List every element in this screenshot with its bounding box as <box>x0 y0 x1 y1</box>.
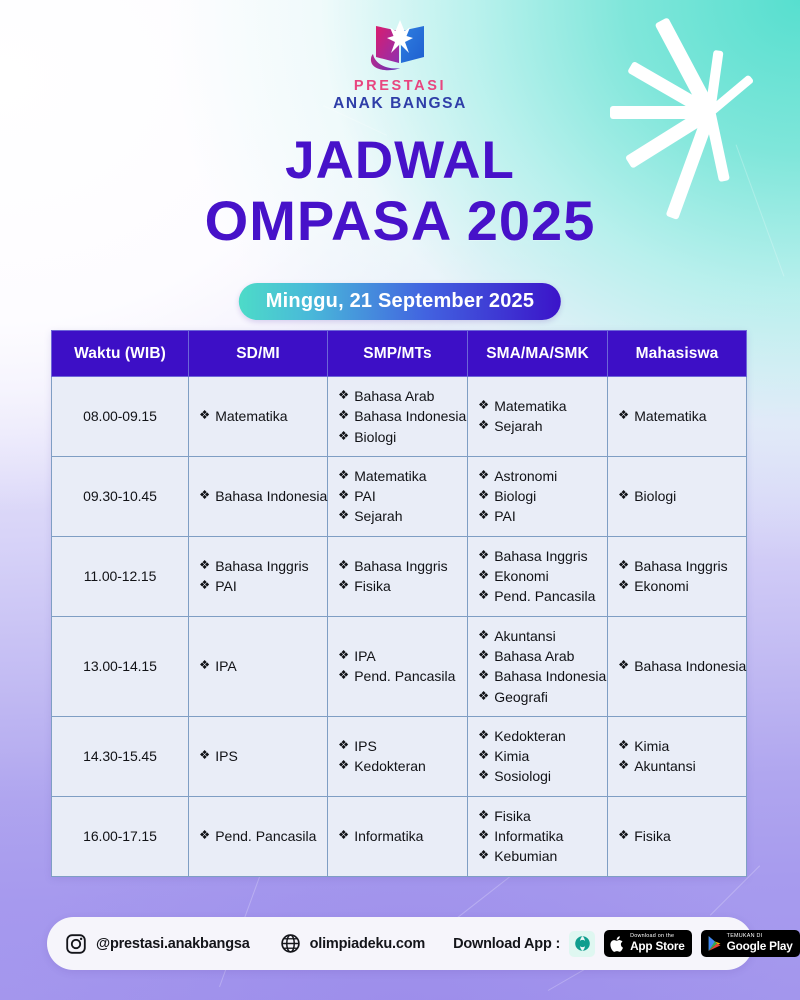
app-glyph-icon <box>573 934 592 953</box>
diamond-bullet-icon: ❖ <box>478 416 489 435</box>
subject-list: ❖Biologi <box>618 486 736 506</box>
title-line-1: JADWAL <box>0 133 800 188</box>
subject-item: ❖Informatika <box>338 826 457 846</box>
subject-item: ❖Bahasa Inggris <box>478 546 597 566</box>
subject-item: ❖Kimia <box>618 736 736 756</box>
subject-label: Pend. Pancasila <box>354 666 455 686</box>
diamond-bullet-icon: ❖ <box>338 756 349 775</box>
table-row: 09.30-10.45❖Bahasa Indonesia❖Matematika❖… <box>52 456 747 536</box>
subject-item: ❖Pend. Pancasila <box>199 826 317 846</box>
subject-label: Bahasa Inggris <box>634 556 727 576</box>
subject-label: Matematika <box>215 406 287 426</box>
diamond-bullet-icon: ❖ <box>478 726 489 745</box>
cell-waktu: 08.00-09.15 <box>52 377 189 457</box>
cell-smamask: ❖Matematika❖Sejarah <box>468 377 608 457</box>
subject-list: ❖IPS❖Kedokteran <box>338 736 457 777</box>
subject-label: Kedokteran <box>354 756 426 776</box>
diamond-bullet-icon: ❖ <box>478 746 489 765</box>
googleplay-badge-bottom: Google Play <box>727 941 793 953</box>
table-header-row: Waktu (WIB) SD/MI SMP/MTs SMA/MA/SMK Mah… <box>52 331 747 377</box>
subject-item: ❖PAI <box>199 576 317 596</box>
instagram-icon[interactable] <box>65 933 87 955</box>
subject-label: Bahasa Arab <box>494 646 574 666</box>
subject-list: ❖Bahasa Inggris❖Ekonomi❖Pend. Pancasila <box>478 546 597 607</box>
diamond-bullet-icon: ❖ <box>338 576 349 595</box>
subject-item: ❖Astronomi <box>478 466 597 486</box>
diamond-bullet-icon: ❖ <box>478 586 489 605</box>
subject-item: ❖Ekonomi <box>478 566 597 586</box>
subject-item: ❖Kedokteran <box>478 726 597 746</box>
diamond-bullet-icon: ❖ <box>338 556 349 575</box>
page-title: JADWAL OMPASA 2025 <box>0 133 800 250</box>
subject-list: ❖Bahasa Arab❖Bahasa Indonesia❖Biologi <box>338 386 457 447</box>
column-header-mahasiswa: Mahasiswa <box>608 331 747 377</box>
diamond-bullet-icon: ❖ <box>199 656 210 675</box>
table-row: 08.00-09.15❖Matematika❖Bahasa Arab❖Bahas… <box>52 377 747 457</box>
table-row: 11.00-12.15❖Bahasa Inggris❖PAI❖Bahasa In… <box>52 536 747 616</box>
subject-label: Biologi <box>634 486 676 506</box>
subject-label: Akuntansi <box>494 626 555 646</box>
title-line-2: OMPASA 2025 <box>0 192 800 250</box>
subject-label: Kimia <box>494 746 529 766</box>
subject-item: ❖Sejarah <box>478 416 597 436</box>
cell-mahasiswa: ❖Bahasa Indonesia <box>608 616 747 716</box>
instagram-handle[interactable]: @prestasi.anakbangsa <box>96 936 250 952</box>
brand-name-line2: ANAK BANGSA <box>0 95 800 113</box>
subject-label: Matematika <box>494 396 566 416</box>
cell-smamask: ❖Akuntansi❖Bahasa Arab❖Bahasa Indonesia❖… <box>468 616 608 716</box>
diamond-bullet-icon: ❖ <box>618 826 629 845</box>
subject-list: ❖Bahasa Inggris❖Fisika <box>338 556 457 597</box>
cell-mahasiswa: ❖Bahasa Inggris❖Ekonomi <box>608 536 747 616</box>
subject-label: IPA <box>354 646 376 666</box>
diamond-bullet-icon: ❖ <box>338 666 349 685</box>
diamond-bullet-icon: ❖ <box>478 546 489 565</box>
cell-waktu: 11.00-12.15 <box>52 536 189 616</box>
subject-list: ❖Matematika <box>199 406 317 426</box>
apple-icon <box>610 935 625 953</box>
subject-list: ❖IPA❖Pend. Pancasila <box>338 646 457 687</box>
appstore-badge-bottom: App Store <box>630 941 685 953</box>
open-book-star-logo-icon <box>363 12 437 74</box>
subject-list: ❖Fisika <box>618 826 736 846</box>
diamond-bullet-icon: ❖ <box>338 406 349 425</box>
diamond-bullet-icon: ❖ <box>199 746 210 765</box>
diamond-bullet-icon: ❖ <box>199 406 210 425</box>
cell-smpmts: ❖IPA❖Pend. Pancasila <box>328 616 468 716</box>
diamond-bullet-icon: ❖ <box>338 486 349 505</box>
subject-list: ❖Matematika❖PAI❖Sejarah <box>338 466 457 527</box>
subject-label: Fisika <box>494 806 531 826</box>
cell-smpmts: ❖IPS❖Kedokteran <box>328 716 468 796</box>
subject-label: Fisika <box>354 576 391 596</box>
diamond-bullet-icon: ❖ <box>478 806 489 825</box>
subject-label: Bahasa Indonesia <box>634 656 746 676</box>
subject-list: ❖Fisika❖Informatika❖Kebumian <box>478 806 597 867</box>
subject-item: ❖Bahasa Indonesia <box>618 656 736 676</box>
diamond-bullet-icon: ❖ <box>478 766 489 785</box>
brand-name-line1: PRESTASI <box>0 78 800 94</box>
diamond-bullet-icon: ❖ <box>478 846 489 865</box>
appstore-badge[interactable]: Download on the App Store <box>604 930 692 957</box>
subject-label: Bahasa Inggris <box>215 556 308 576</box>
table-row: 14.30-15.45❖IPS❖IPS❖Kedokteran❖Kedoktera… <box>52 716 747 796</box>
diamond-bullet-icon: ❖ <box>338 736 349 755</box>
cell-sdmi: ❖Matematika <box>189 377 328 457</box>
subject-label: Biologi <box>354 427 396 447</box>
subject-label: Bahasa Indonesia <box>215 486 327 506</box>
cell-sdmi: ❖Pend. Pancasila <box>189 796 328 876</box>
diamond-bullet-icon: ❖ <box>478 506 489 525</box>
subject-item: ❖Matematika <box>199 406 317 426</box>
subject-label: Pend. Pancasila <box>494 586 595 606</box>
footer-bar: @prestasi.anakbangsa olimpiadeku.com Dow… <box>47 917 753 970</box>
column-header-sdmi: SD/MI <box>189 331 328 377</box>
diamond-bullet-icon: ❖ <box>478 486 489 505</box>
subject-label: PAI <box>494 506 516 526</box>
subject-item: ❖Matematika <box>338 466 457 486</box>
diamond-bullet-icon: ❖ <box>338 466 349 485</box>
subject-list: ❖Kedokteran❖Kimia❖Sosiologi <box>478 726 597 787</box>
cell-mahasiswa: ❖Kimia❖Akuntansi <box>608 716 747 796</box>
diamond-bullet-icon: ❖ <box>338 506 349 525</box>
subject-list: ❖Bahasa Indonesia <box>618 656 736 676</box>
subject-label: Sejarah <box>494 416 542 436</box>
subject-item: ❖Fisika <box>338 576 457 596</box>
diamond-bullet-icon: ❖ <box>618 656 629 675</box>
subject-list: ❖Akuntansi❖Bahasa Arab❖Bahasa Indonesia❖… <box>478 626 597 707</box>
cell-waktu: 09.30-10.45 <box>52 456 189 536</box>
cell-smamask: ❖Bahasa Inggris❖Ekonomi❖Pend. Pancasila <box>468 536 608 616</box>
diamond-bullet-icon: ❖ <box>478 466 489 485</box>
subject-list: ❖Bahasa Inggris❖PAI <box>199 556 317 597</box>
cell-mahasiswa: ❖Matematika <box>608 377 747 457</box>
diamond-bullet-icon: ❖ <box>478 626 489 645</box>
subject-label: Geografi <box>494 687 548 707</box>
subject-item: ❖Ekonomi <box>618 576 736 596</box>
cell-smamask: ❖Fisika❖Informatika❖Kebumian <box>468 796 608 876</box>
subject-list: ❖Bahasa Inggris❖Ekonomi <box>618 556 736 597</box>
subject-label: Fisika <box>634 826 671 846</box>
subject-list: ❖Kimia❖Akuntansi <box>618 736 736 777</box>
subject-item: ❖Kimia <box>478 746 597 766</box>
subject-label: Ekonomi <box>634 576 688 596</box>
subject-item: ❖Sosiologi <box>478 766 597 786</box>
diamond-bullet-icon: ❖ <box>338 427 349 446</box>
olimpiadeku-app-icon[interactable] <box>569 931 595 957</box>
subject-label: Kedokteran <box>494 726 566 746</box>
table-body: 08.00-09.15❖Matematika❖Bahasa Arab❖Bahas… <box>52 377 747 877</box>
subject-item: ❖Biologi <box>338 427 457 447</box>
subject-list: ❖Matematika <box>618 406 736 426</box>
subject-item: ❖Sejarah <box>338 506 457 526</box>
subject-list: ❖IPS <box>199 746 317 766</box>
subject-label: Pend. Pancasila <box>215 826 316 846</box>
subject-label: Bahasa Arab <box>354 386 434 406</box>
subject-item: ❖Pend. Pancasila <box>478 586 597 606</box>
subject-label: IPS <box>215 746 238 766</box>
subject-label: IPA <box>215 656 237 676</box>
subject-list: ❖IPA <box>199 656 317 676</box>
subject-item: ❖Bahasa Inggris <box>338 556 457 576</box>
download-app-label: Download App : <box>453 936 560 952</box>
diamond-bullet-icon: ❖ <box>618 406 629 425</box>
subject-item: ❖Pend. Pancasila <box>338 666 457 686</box>
subject-item: ❖IPA <box>338 646 457 666</box>
diamond-bullet-icon: ❖ <box>618 556 629 575</box>
subject-label: IPS <box>354 736 377 756</box>
subject-label: PAI <box>215 576 237 596</box>
subject-list: ❖Informatika <box>338 826 457 846</box>
subject-item: ❖IPS <box>338 736 457 756</box>
subject-label: Sejarah <box>354 506 402 526</box>
subject-item: ❖Bahasa Inggris <box>618 556 736 576</box>
subject-label: Sosiologi <box>494 766 551 786</box>
diamond-bullet-icon: ❖ <box>618 736 629 755</box>
cell-smamask: ❖Astronomi❖Biologi❖PAI <box>468 456 608 536</box>
subject-item: ❖Bahasa Indonesia <box>338 406 457 426</box>
diamond-bullet-icon: ❖ <box>618 756 629 775</box>
subject-label: Bahasa Inggris <box>354 556 447 576</box>
brand-logo: PRESTASI ANAK BANGSA <box>0 12 800 113</box>
subject-item: ❖Matematika <box>478 396 597 416</box>
subject-list: ❖Pend. Pancasila <box>199 826 317 846</box>
subject-item: ❖Bahasa Arab <box>478 646 597 666</box>
subject-label: Informatika <box>494 826 563 846</box>
subject-item: ❖Kedokteran <box>338 756 457 776</box>
cell-waktu: 13.00-14.15 <box>52 616 189 716</box>
subject-list: ❖Bahasa Indonesia <box>199 486 317 506</box>
cell-sdmi: ❖IPS <box>189 716 328 796</box>
google-play-icon <box>707 935 722 952</box>
diamond-bullet-icon: ❖ <box>618 576 629 595</box>
diamond-bullet-icon: ❖ <box>618 486 629 505</box>
subject-item: ❖Biologi <box>618 486 736 506</box>
column-header-smamask: SMA/MA/SMK <box>468 331 608 377</box>
schedule-table: Waktu (WIB) SD/MI SMP/MTs SMA/MA/SMK Mah… <box>51 330 747 877</box>
cell-sdmi: ❖Bahasa Inggris❖PAI <box>189 536 328 616</box>
cell-waktu: 16.00-17.15 <box>52 796 189 876</box>
diamond-bullet-icon: ❖ <box>478 396 489 415</box>
cell-waktu: 14.30-15.45 <box>52 716 189 796</box>
subject-label: Bahasa Indonesia <box>494 666 606 686</box>
diamond-bullet-icon: ❖ <box>478 826 489 845</box>
subject-item: ❖PAI <box>478 506 597 526</box>
subject-item: ❖Kebumian <box>478 846 597 866</box>
subject-label: Bahasa Indonesia <box>354 406 466 426</box>
subject-item: ❖Matematika <box>618 406 736 426</box>
subject-label: Akuntansi <box>634 756 695 776</box>
subject-item: ❖Fisika <box>478 806 597 826</box>
subject-label: Ekonomi <box>494 566 548 586</box>
diamond-bullet-icon: ❖ <box>338 386 349 405</box>
cell-smpmts: ❖Informatika <box>328 796 468 876</box>
subject-label: Kimia <box>634 736 669 756</box>
diamond-bullet-icon: ❖ <box>338 646 349 665</box>
diamond-bullet-icon: ❖ <box>199 556 210 575</box>
subject-label: Kebumian <box>494 846 557 866</box>
column-header-smpmts: SMP/MTs <box>328 331 468 377</box>
diamond-bullet-icon: ❖ <box>478 687 489 706</box>
diamond-bullet-icon: ❖ <box>478 666 489 685</box>
subject-item: ❖Bahasa Arab <box>338 386 457 406</box>
subject-item: ❖Bahasa Indonesia <box>199 486 317 506</box>
subject-label: Matematika <box>634 406 706 426</box>
subject-item: ❖IPA <box>199 656 317 676</box>
subject-list: ❖Matematika❖Sejarah <box>478 396 597 437</box>
subject-label: Matematika <box>354 466 426 486</box>
diamond-bullet-icon: ❖ <box>199 576 210 595</box>
column-header-waktu: Waktu (WIB) <box>52 331 189 377</box>
subject-item: ❖Bahasa Indonesia <box>478 666 597 686</box>
subject-item: ❖IPS <box>199 746 317 766</box>
subject-item: ❖Akuntansi <box>618 756 736 776</box>
cell-mahasiswa: ❖Biologi <box>608 456 747 536</box>
subject-label: Astronomi <box>494 466 557 486</box>
table-row: 16.00-17.15❖Pend. Pancasila❖Informatika❖… <box>52 796 747 876</box>
cell-sdmi: ❖Bahasa Indonesia <box>189 456 328 536</box>
globe-icon[interactable] <box>280 933 301 954</box>
subject-item: ❖Informatika <box>478 826 597 846</box>
diamond-bullet-icon: ❖ <box>478 646 489 665</box>
diamond-bullet-icon: ❖ <box>338 826 349 845</box>
subject-item: ❖Geografi <box>478 687 597 707</box>
subject-item: ❖Fisika <box>618 826 736 846</box>
subject-item: ❖Bahasa Inggris <box>199 556 317 576</box>
cell-smpmts: ❖Bahasa Inggris❖Fisika <box>328 536 468 616</box>
diamond-bullet-icon: ❖ <box>478 566 489 585</box>
subject-label: PAI <box>354 486 376 506</box>
cell-smamask: ❖Kedokteran❖Kimia❖Sosiologi <box>468 716 608 796</box>
googleplay-badge[interactable]: TEMUKAN DI Google Play <box>701 930 800 957</box>
subject-label: Informatika <box>354 826 423 846</box>
cell-sdmi: ❖IPA <box>189 616 328 716</box>
cell-smpmts: ❖Matematika❖PAI❖Sejarah <box>328 456 468 536</box>
subject-label: Bahasa Inggris <box>494 546 587 566</box>
date-badge: Minggu, 21 September 2025 <box>239 283 561 320</box>
website-link[interactable]: olimpiadeku.com <box>310 936 425 952</box>
cell-mahasiswa: ❖Fisika <box>608 796 747 876</box>
subject-list: ❖Astronomi❖Biologi❖PAI <box>478 466 597 527</box>
table-row: 13.00-14.15❖IPA❖IPA❖Pend. Pancasila❖Akun… <box>52 616 747 716</box>
subject-item: ❖Biologi <box>478 486 597 506</box>
diamond-bullet-icon: ❖ <box>199 826 210 845</box>
subject-item: ❖Akuntansi <box>478 626 597 646</box>
cell-smpmts: ❖Bahasa Arab❖Bahasa Indonesia❖Biologi <box>328 377 468 457</box>
diamond-bullet-icon: ❖ <box>199 486 210 505</box>
subject-label: Biologi <box>494 486 536 506</box>
subject-item: ❖PAI <box>338 486 457 506</box>
